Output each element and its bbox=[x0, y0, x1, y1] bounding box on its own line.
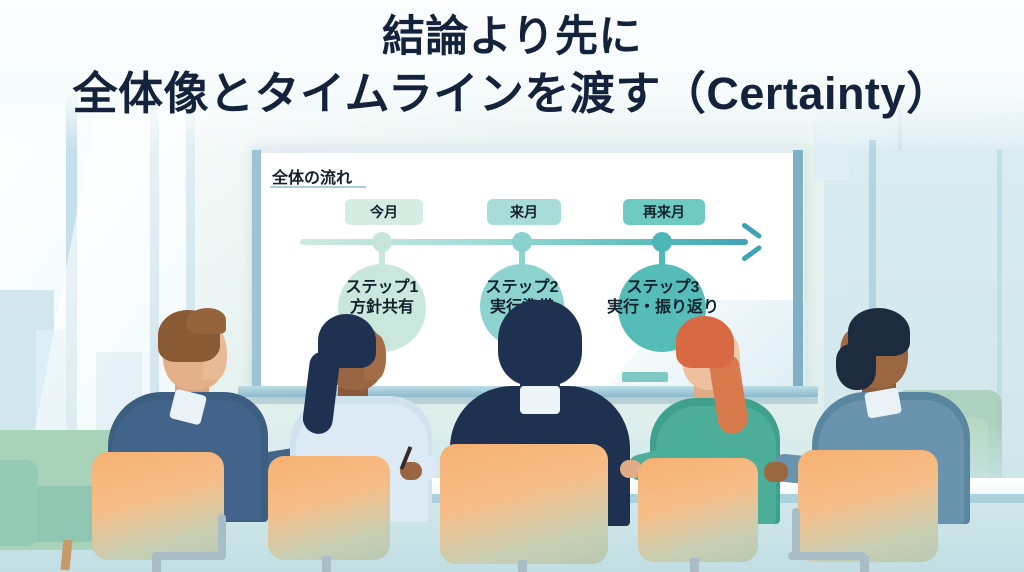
page-title: 結論より先に 全体像とタイムラインを渡す（Certainty） bbox=[0, 12, 1024, 120]
office-chair-4-stem bbox=[690, 558, 699, 572]
office-chair-2 bbox=[268, 456, 390, 572]
office-chair-1-stem bbox=[152, 556, 161, 572]
step-label-3: ステップ3 実行・振り返り bbox=[548, 278, 778, 317]
timeline-node-1 bbox=[372, 232, 392, 252]
office-chair-4 bbox=[638, 458, 758, 572]
whiteboard-top-frame bbox=[252, 146, 804, 153]
step-detail-3: 実行・振り返り bbox=[548, 298, 778, 318]
office-chair-1-arm bbox=[152, 552, 226, 560]
office-chair-1 bbox=[92, 452, 224, 572]
office-chair-1-back bbox=[92, 452, 224, 560]
office-chair-5-stem bbox=[860, 556, 869, 572]
office-chair-5 bbox=[798, 450, 938, 572]
whiteboard-heading-underline bbox=[270, 186, 366, 188]
attendee-1-hair-top bbox=[186, 308, 226, 334]
whiteboard-marker bbox=[622, 372, 668, 382]
step-name-3: ステップ3 bbox=[548, 278, 778, 298]
month-chip-2: 来月 bbox=[487, 199, 561, 225]
office-chair-3-back bbox=[440, 444, 608, 564]
attendee-5-hair bbox=[848, 308, 910, 356]
month-chip-3: 再来月 bbox=[623, 199, 705, 225]
whiteboard-heading: 全体の流れ bbox=[272, 164, 352, 188]
office-chair-5-arm bbox=[788, 552, 866, 560]
whiteboard-left-frame bbox=[252, 150, 261, 394]
office-chair-5-back bbox=[798, 450, 938, 562]
title-line-2: 全体像とタイムラインを渡す（Certainty） bbox=[0, 67, 1024, 120]
office-chair-3-stem bbox=[518, 560, 527, 572]
office-chair-3 bbox=[440, 444, 608, 572]
timeline-node-2 bbox=[512, 232, 532, 252]
office-chair-5-arm-post bbox=[792, 508, 800, 556]
attendee-4-hair bbox=[676, 316, 734, 368]
slide-canvas: 結論より先に 全体像とタイムラインを渡す（Certainty） 全体の流れ 今月… bbox=[0, 0, 1024, 572]
attendee-3-head bbox=[498, 300, 582, 386]
whiteboard-right-frame bbox=[793, 150, 803, 394]
attendee-5-hand bbox=[764, 462, 788, 482]
timeline-node-3 bbox=[652, 232, 672, 252]
attendee-2-hair bbox=[318, 314, 376, 368]
office-chair-4-back bbox=[638, 458, 758, 562]
lounge-sofa-arm bbox=[0, 460, 38, 546]
month-chip-1: 今月 bbox=[345, 199, 423, 225]
attendee-3-collar bbox=[520, 386, 560, 414]
title-line-1: 結論より先に bbox=[0, 12, 1024, 63]
right-arrow-icon bbox=[736, 230, 762, 254]
office-chair-2-back bbox=[268, 456, 390, 560]
office-chair-2-stem bbox=[322, 556, 331, 572]
